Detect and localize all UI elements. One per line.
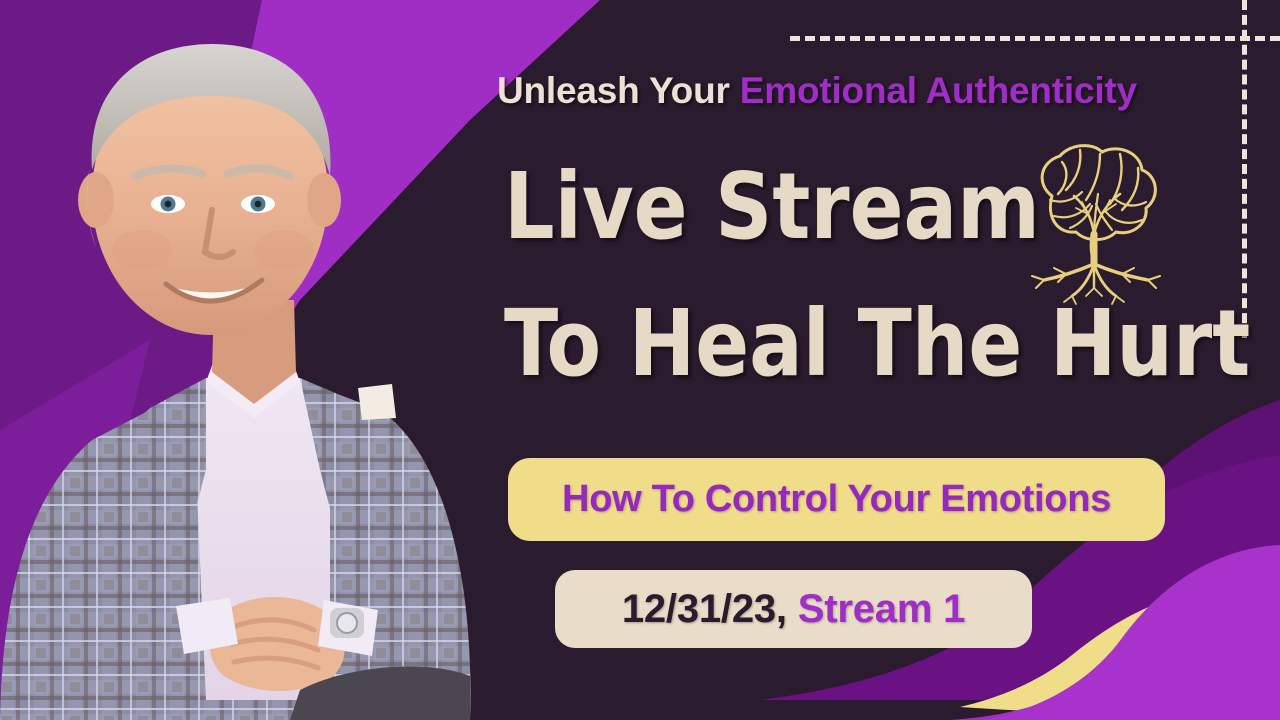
pocket-square — [358, 384, 396, 420]
date-pill[interactable]: 12/31/23, Stream 1 — [555, 570, 1032, 648]
pupil-right — [255, 201, 262, 208]
thumbnail-canvas: Unleash Your Emotional Authenticity Live… — [0, 0, 1280, 720]
brain-tree-icon — [1000, 138, 1180, 318]
ear-right — [307, 173, 341, 227]
cheek-left — [112, 230, 172, 270]
dashed-rule-vertical — [1242, 0, 1247, 338]
eyebrow-purple-part: Emotional Authenticity — [740, 70, 1137, 111]
date-pill-date: 12/31/23, — [622, 587, 787, 631]
subtitle-pill[interactable]: How To Control Your Emotions — [508, 458, 1165, 541]
ear-left — [78, 172, 114, 228]
wristwatch — [330, 608, 364, 638]
date-pill-stream: Stream 1 — [798, 587, 965, 631]
eyebrow-cream-part: Unleash Your — [497, 70, 730, 111]
eyebrow-text: Unleash Your Emotional Authenticity — [497, 72, 1227, 109]
presenter-portrait — [0, 0, 500, 720]
subtitle-pill-label: How To Control Your Emotions — [562, 478, 1111, 521]
cheek-right — [254, 230, 314, 270]
pupil-left — [165, 201, 172, 208]
shirt-cuff-left — [176, 598, 238, 654]
dashed-rule-horizontal — [790, 36, 1280, 41]
